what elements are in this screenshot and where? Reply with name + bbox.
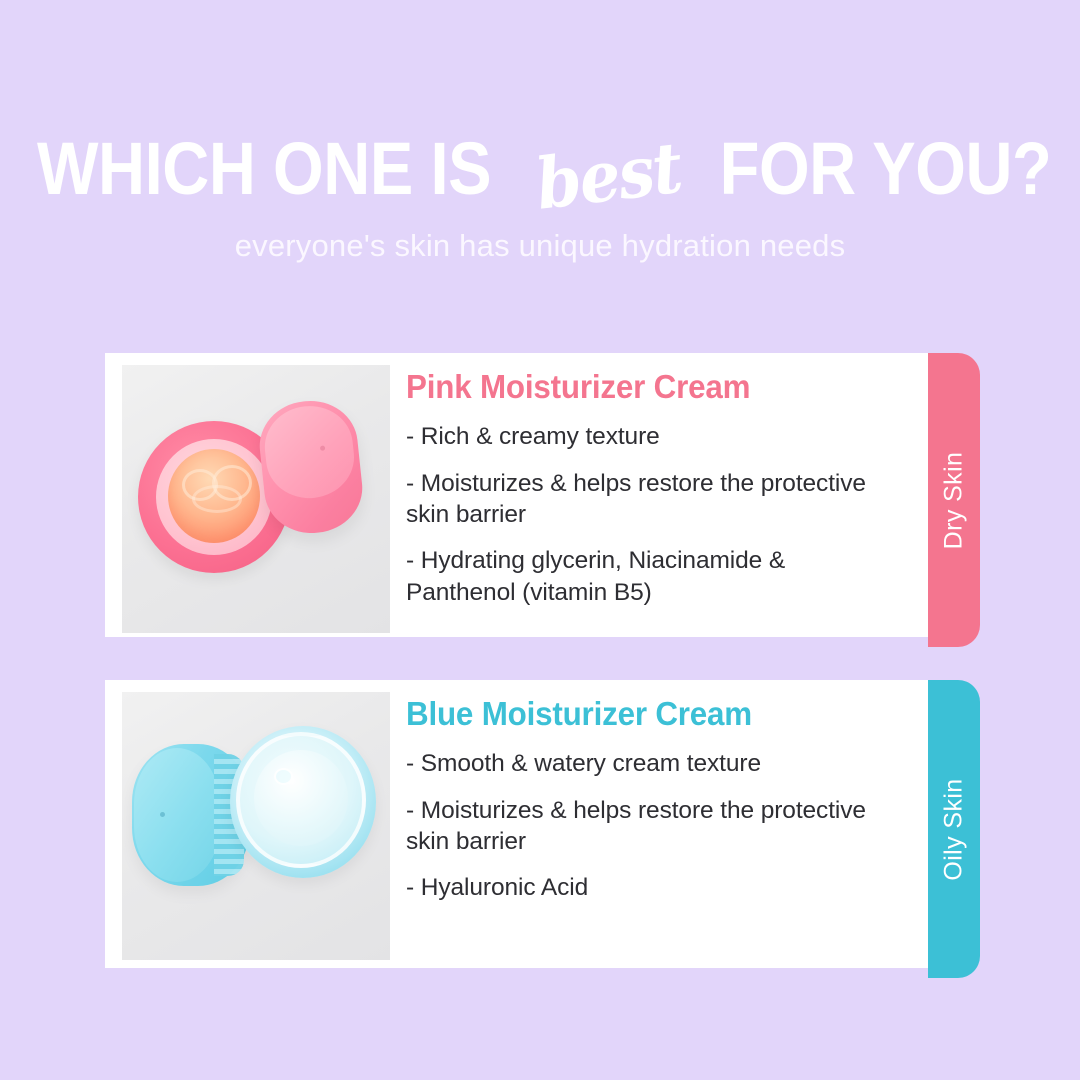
card-bullet: - Rich & creamy texture [406, 421, 876, 452]
product-image-pink [122, 365, 390, 633]
header: WHICH ONE IS best FOR YOU? everyone's sk… [0, 0, 1080, 330]
blue-lid-mark [160, 812, 165, 817]
pink-cream-surface [168, 449, 260, 543]
skin-type-tab-dry[interactable]: Dry Skin [928, 353, 980, 647]
skin-type-tab-label: Oily Skin [940, 778, 969, 880]
card-title-blue: Blue Moisturizer Cream [406, 696, 904, 732]
blue-jar-inner-rim [236, 732, 366, 868]
skin-type-tab-label: Dry Skin [940, 451, 969, 549]
product-card-pink[interactable]: Pink Moisturizer Cream - Rich & creamy t… [105, 353, 930, 637]
product-image-blue [122, 692, 390, 960]
blue-jar-body [230, 726, 376, 878]
card-inner: Pink Moisturizer Cream - Rich & creamy t… [105, 353, 930, 637]
blue-gel-surface [254, 750, 348, 846]
card-title-pink: Pink Moisturizer Cream [406, 369, 904, 405]
product-card-blue[interactable]: Blue Moisturizer Cream - Smooth & watery… [105, 680, 930, 968]
card-bullet: - Hydrating glycerin, Niacinamide & Pant… [406, 545, 876, 608]
page-title-part1: WHICH ONE IS [37, 132, 491, 206]
card-bullet: - Moisturizes & helps restore the protec… [406, 468, 876, 531]
pink-lid-top-face [261, 402, 358, 503]
blue-lid-top-face [134, 748, 220, 882]
cream-swirl-icon [192, 485, 242, 513]
page-title: WHICH ONE IS best FOR YOU? [0, 132, 1080, 224]
card-text-blue: Blue Moisturizer Cream - Smooth & watery… [390, 680, 930, 904]
card-bullet: - Moisturizes & helps restore the protec… [406, 795, 876, 858]
card-bullet: - Hyaluronic Acid [406, 872, 876, 903]
pink-jar-inner-rim [156, 439, 272, 555]
card-inner: Blue Moisturizer Cream - Smooth & watery… [105, 680, 930, 968]
card-bullet: - Smooth & watery cream texture [406, 748, 876, 779]
skin-type-tab-oily[interactable]: Oily Skin [928, 680, 980, 978]
page-subtitle: everyone's skin has unique hydration nee… [0, 228, 1080, 264]
page-title-part2: FOR YOU? [720, 132, 1052, 206]
gel-bubble-icon [274, 768, 293, 785]
page-title-script-word: best [532, 133, 684, 220]
card-text-pink: Pink Moisturizer Cream - Rich & creamy t… [390, 353, 930, 608]
